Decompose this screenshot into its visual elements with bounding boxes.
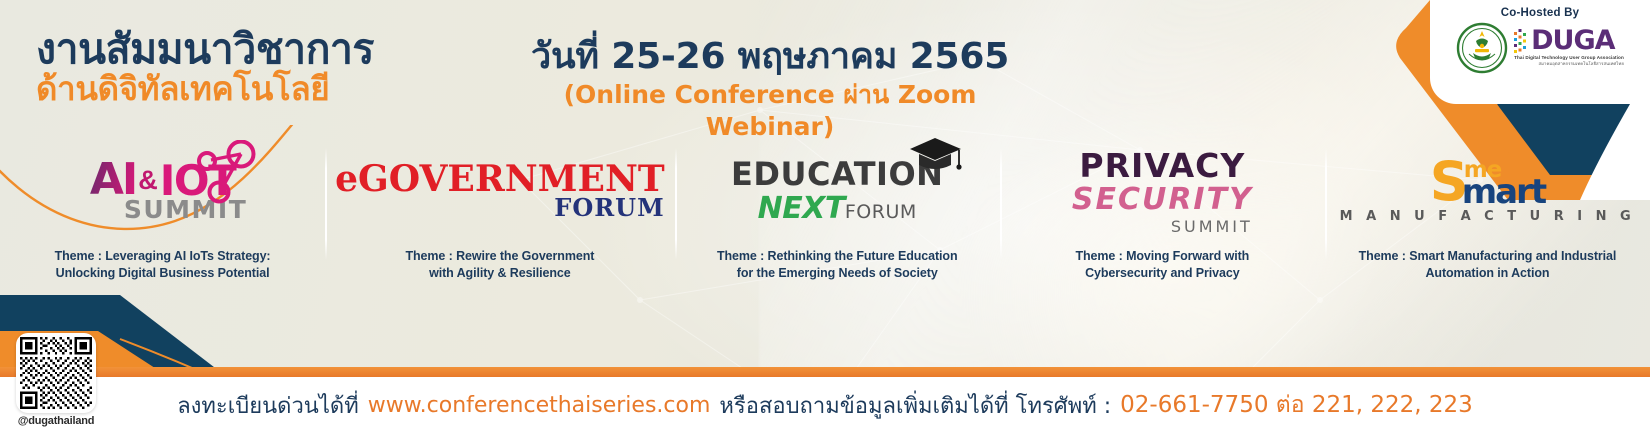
ministry-seal-icon — [1456, 22, 1508, 74]
theme-line-1: Theme : Moving Forward with — [1075, 248, 1249, 265]
footer-content: ลงทะเบียนด่วนได้ที่ www.conferencethaise… — [0, 377, 1650, 433]
track-logo-row: AI & IOT SUMMIT Theme : Leveraging AI — [0, 138, 1650, 308]
register-label: ลงทะเบียนด่วนได้ที่ — [177, 388, 359, 423]
egovernment-wordmark: eGOVERNMENT — [335, 162, 665, 196]
qr-block[interactable]: @dugathailand — [8, 333, 104, 427]
theme-line-1: Theme : Leveraging AI IoTs Strategy: — [55, 248, 271, 265]
smart-s-letter: S — [1430, 160, 1466, 204]
track-theme: Theme : Smart Manufacturing and Industri… — [1359, 248, 1617, 282]
smart-manufacturing-logo: S me mart M A N U F A C T U R I N G — [1340, 160, 1636, 225]
co-hosted-logos: DUGA Thai Digital Technology User Group … — [1456, 22, 1624, 74]
smart-mart-letters: mart — [1462, 178, 1545, 208]
ampersand: & — [138, 167, 158, 194]
track-privacy-security-summit[interactable]: PRIVACY SECURITY SUMMIT Theme : Moving F… — [1000, 138, 1325, 282]
theme-line-2: with Agility & Resilience — [405, 265, 594, 282]
education-next-logo: EDUCATION NEXT FORUM — [731, 158, 943, 226]
ai-iot-logo: AI & IOT SUMMIT — [78, 160, 247, 225]
duga-logo-row: DUGA — [1514, 29, 1614, 53]
duga-subtitle-thai: สมาคมอุตสาหกรรมเทคโนโลยีสารสนเทศไทย — [1514, 60, 1624, 67]
duga-wordmark: DUGA — [1531, 29, 1614, 53]
network-node-icon — [189, 140, 263, 206]
co-hosted-panel: Co-Hosted By — [1430, 0, 1650, 104]
track-theme: Theme : Rethinking the Future Education … — [717, 248, 958, 282]
track-egovernment-forum[interactable]: eGOVERNMENT FORUM Theme : Rewire the Gov… — [325, 138, 675, 282]
registration-url[interactable]: www.conferencethaiseries.com — [368, 393, 711, 418]
smart-manufacturing-logo-area: S me mart M A N U F A C T U R I N G — [1335, 138, 1640, 246]
qr-handle-label: @dugathailand — [18, 415, 95, 427]
privacy-summit-label: SUMMIT — [1171, 217, 1253, 236]
privacy-word: PRIVACY — [1079, 149, 1245, 182]
track-education-next-forum[interactable]: EDUCATION NEXT FORUM Theme : Rethinking … — [675, 138, 1000, 282]
smart-stack: me mart — [1462, 160, 1545, 209]
theme-line-2: for the Emerging Needs of Society — [717, 265, 958, 282]
duga-logo: DUGA Thai Digital Technology User Group … — [1514, 29, 1624, 66]
egovernment-logo: eGOVERNMENT FORUM — [335, 162, 665, 222]
track-theme: Theme : Rewire the Government with Agili… — [405, 248, 594, 282]
egovernment-logo-area: eGOVERNMENT FORUM — [335, 138, 665, 246]
track-ai-iot-summit[interactable]: AI & IOT SUMMIT Theme : Leveraging AI — [0, 138, 325, 282]
theme-line-2: Cybersecurity and Privacy — [1075, 265, 1249, 282]
theme-line-2: Automation in Action — [1359, 265, 1617, 282]
theme-line-2: Unlocking Digital Business Potential — [55, 265, 271, 282]
egovernment-e: e — [335, 158, 358, 200]
track-sme-smart-manufacturing[interactable]: S me mart M A N U F A C T U R I N G Them… — [1325, 138, 1650, 282]
event-date-block: วันที่ 25-26 พฤษภาคม 2565 (Online Confer… — [500, 36, 1040, 142]
education-forum-label: FORUM — [845, 201, 917, 223]
theme-line-1: Theme : Rewire the Government — [405, 248, 594, 265]
footer-orange-stripe — [0, 367, 1650, 377]
education-next-logo-area: EDUCATION NEXT FORUM — [685, 138, 990, 246]
conference-banner: Co-Hosted By — [0, 0, 1650, 433]
co-hosted-label: Co-Hosted By — [1501, 7, 1579, 19]
theme-line-1: Theme : Smart Manufacturing and Industri… — [1359, 248, 1617, 265]
duga-pixel-mark-icon — [1514, 29, 1529, 53]
graduation-cap-icon — [905, 132, 965, 176]
qr-card[interactable] — [16, 333, 96, 413]
headline-block: งานสัมมนาวิชาการ ด้านดิจิทัลเทคโนโลยี — [36, 28, 374, 108]
next-word: NEXT — [758, 191, 845, 226]
headline-secondary: ด้านดิจิทัลเทคโนโลยี — [36, 71, 374, 108]
privacy-security-logo-area: PRIVACY SECURITY SUMMIT — [1010, 138, 1315, 246]
ai-word: AI — [90, 160, 136, 200]
privacy-security-logo: PRIVACY SECURITY SUMMIT — [1072, 149, 1253, 236]
track-theme: Theme : Leveraging AI IoTs Strategy: Unl… — [55, 248, 271, 282]
contact-label: หรือสอบถามข้อมูลเพิ่มเติมได้ที่ โทรศัพท์… — [719, 388, 1111, 423]
footer-bar: ลงทะเบียนด่วนได้ที่ www.conferencethaise… — [0, 367, 1650, 433]
egovernment-forum-label: FORUM — [554, 193, 664, 222]
theme-line-1: Theme : Rethinking the Future Education — [717, 248, 958, 265]
track-theme: Theme : Moving Forward with Cybersecurit… — [1075, 248, 1249, 282]
security-word: SECURITY — [1072, 183, 1253, 216]
ai-iot-logo-area: AI & IOT SUMMIT — [10, 138, 315, 246]
smart-wordmark: S me mart — [1430, 160, 1545, 209]
headline-primary: งานสัมมนาวิชาการ — [36, 28, 374, 71]
qr-code-icon[interactable] — [20, 337, 92, 409]
contact-phone[interactable]: 02-661-7750 ต่อ 221, 222, 223 — [1120, 387, 1473, 423]
education-next-row: NEXT FORUM — [758, 191, 917, 226]
event-date: วันที่ 25-26 พฤษภาคม 2565 — [500, 36, 1040, 77]
